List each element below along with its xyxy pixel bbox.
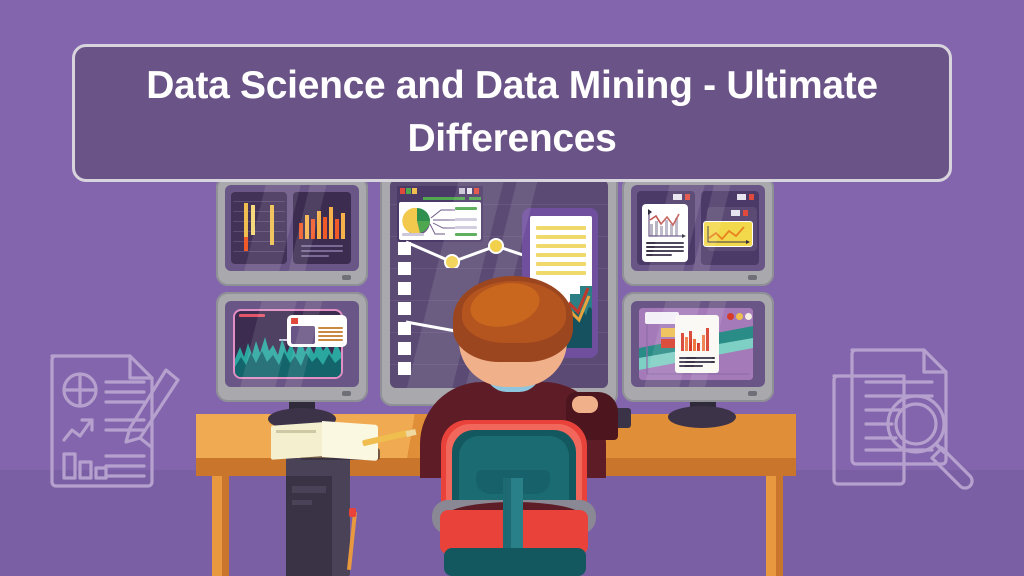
monitor-bottom-left[interactable] bbox=[216, 292, 368, 402]
report-with-pencil-icon bbox=[44, 344, 204, 496]
report-document-with-line-chart bbox=[642, 204, 688, 262]
person-right-hand bbox=[572, 396, 598, 413]
monitor-bottom-left-screen bbox=[225, 301, 359, 387]
book-text-line bbox=[276, 430, 316, 433]
monitor-top-left[interactable] bbox=[216, 176, 368, 286]
monitor-top-left-led bbox=[342, 275, 351, 280]
desk-leg-right-shade bbox=[776, 476, 783, 576]
popup-close-icon[interactable] bbox=[291, 318, 298, 324]
monitor-bottom-right-screen bbox=[631, 301, 765, 387]
inner-window-controls[interactable] bbox=[731, 210, 749, 216]
monitor-top-right[interactable] bbox=[622, 176, 774, 286]
pie-chart-window[interactable] bbox=[397, 186, 483, 242]
title-card: Data Science and Data Mining - Ultimate … bbox=[72, 44, 952, 182]
candle-4 bbox=[270, 205, 274, 245]
monitor-top-right-screen bbox=[631, 185, 765, 271]
monitor-bottom-right[interactable] bbox=[622, 292, 774, 402]
tower-vent bbox=[292, 500, 312, 505]
candle-1 bbox=[244, 203, 248, 239]
pie-window-titlebar bbox=[397, 186, 483, 196]
monitor-top-right-led bbox=[748, 275, 757, 280]
window-controls-right[interactable] bbox=[737, 194, 755, 200]
monitor-top-left-screen bbox=[225, 185, 359, 271]
tower-drive-slot bbox=[292, 486, 326, 493]
power-cable-plug bbox=[349, 508, 356, 517]
pie-window-controls[interactable] bbox=[459, 188, 479, 194]
pie-window-body bbox=[399, 202, 481, 240]
chair-base bbox=[444, 548, 586, 576]
monitor-base-right bbox=[668, 406, 736, 428]
window-dots[interactable] bbox=[727, 313, 753, 320]
window-controls-left[interactable] bbox=[673, 194, 691, 200]
monitor-bottom-left-led bbox=[342, 391, 351, 396]
popup-window-with-text-lines[interactable] bbox=[287, 315, 347, 347]
candle-2 bbox=[251, 205, 255, 235]
page-title: Data Science and Data Mining - Ultimate … bbox=[75, 60, 949, 165]
candlestick-chart-panel bbox=[231, 192, 287, 264]
candle-3 bbox=[244, 237, 248, 251]
red-bar-chart-window bbox=[675, 315, 719, 373]
monitor-bottom-right-led bbox=[748, 391, 757, 396]
desk-leg-left-shade bbox=[222, 476, 229, 576]
open-book-left-page bbox=[271, 422, 323, 460]
yellow-trend-chart-window bbox=[703, 221, 753, 247]
illustration-canvas: Data Science and Data Mining - Ultimate … bbox=[0, 0, 1024, 576]
documents-with-magnifier-icon bbox=[826, 340, 996, 496]
node-link-line-chart bbox=[404, 238, 534, 268]
